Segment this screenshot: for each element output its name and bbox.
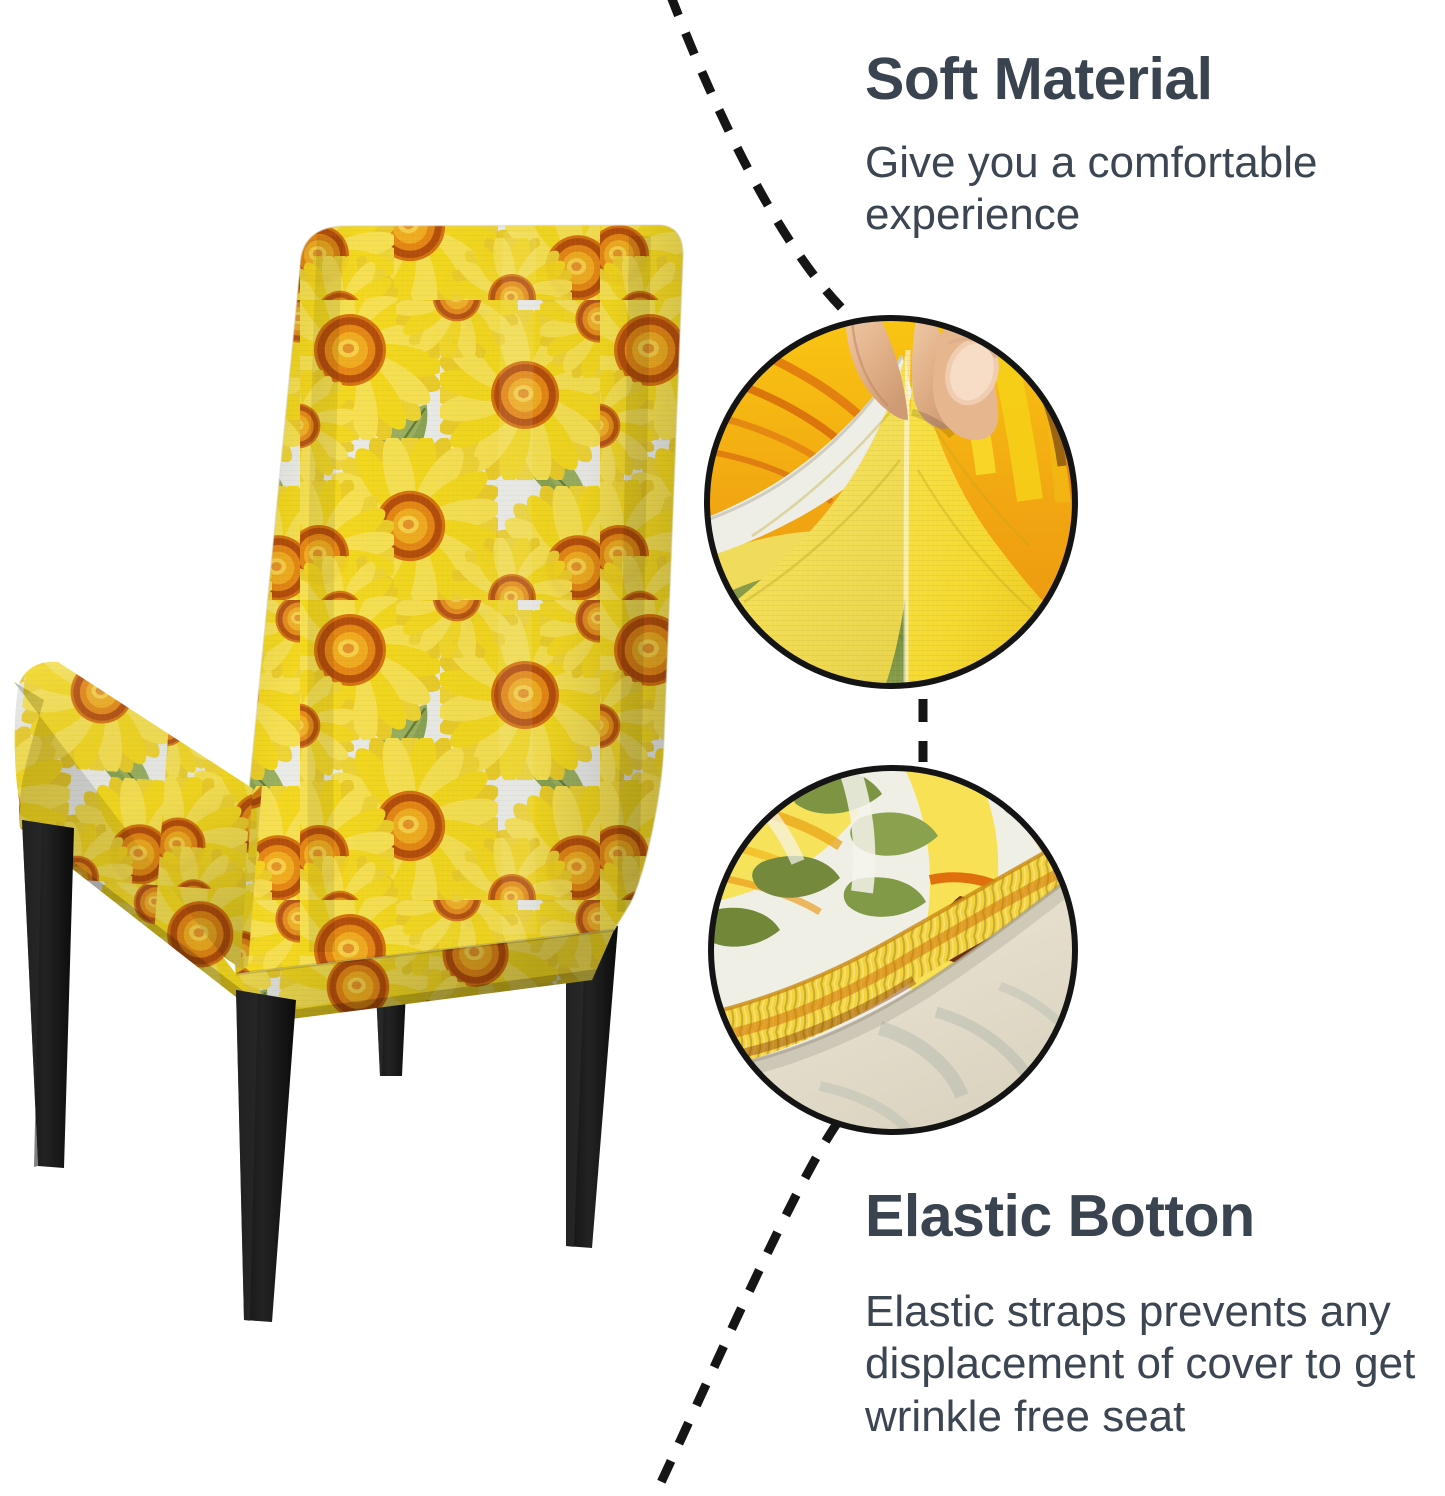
chair-leg-back-left (372, 905, 410, 1076)
chair-illustration (0, 210, 710, 1322)
chair-seat-top (0, 640, 300, 1000)
chair-back-panel (220, 210, 710, 1000)
chair-leg-front-left (22, 820, 74, 1168)
soft-material-body: Give you a comfortable experience (865, 137, 1425, 243)
elastic-botton-title: Elastic Botton (865, 1185, 1435, 1248)
infographic-canvas: Soft Material Give you a comfortable exp… (0, 0, 1445, 1496)
detail-circle-fabric-pinch (696, 302, 1092, 726)
detail-circle-elastic-hem (698, 760, 1092, 1150)
callout-soft-material: Soft Material Give you a comfortable exp… (865, 48, 1425, 242)
soft-material-title: Soft Material (865, 48, 1425, 111)
callout-elastic-botton: Elastic Botton Elastic straps prevents a… (865, 1185, 1435, 1444)
chair-back-left-facet (200, 740, 310, 1000)
chair-seat-skirt (0, 650, 640, 1050)
chair-leg-back-right (566, 916, 618, 1248)
chair-leg-front-right (236, 990, 296, 1322)
elastic-botton-body: Elastic straps prevents any displacement… (865, 1286, 1435, 1444)
